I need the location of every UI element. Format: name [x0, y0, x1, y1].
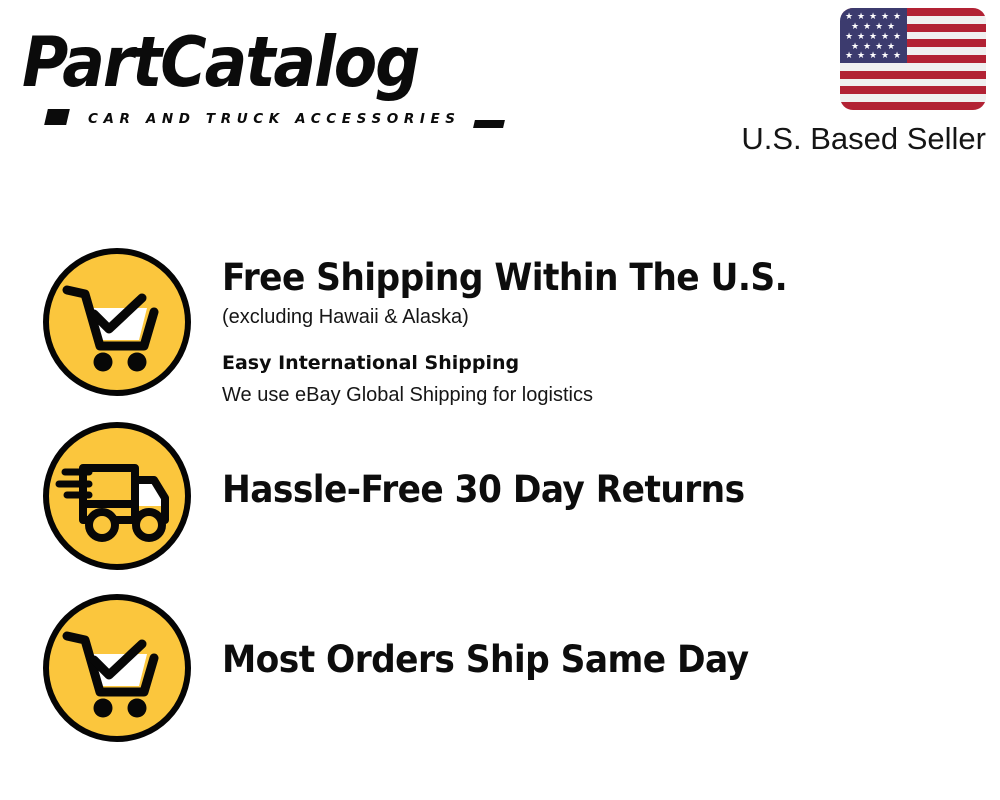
- benefit-heading: Free Shipping Within The U.S.: [222, 256, 938, 300]
- benefit-subtext-secondary: We use eBay Global Shipping for logistic…: [222, 380, 992, 410]
- benefit-heading: Hassle-Free 30 Day Returns: [222, 468, 938, 512]
- benefit-row: Hassle-Free 30 Day Returns: [0, 420, 1000, 592]
- benefit-text-block: Hassle-Free 30 Day Returns: [222, 468, 992, 512]
- shopping-cart-check-icon: [43, 248, 191, 396]
- benefit-row: Most Orders Ship Same Day: [0, 591, 1000, 763]
- benefits-list: Free Shipping Within The U.S. (excluding…: [0, 170, 1000, 800]
- delivery-truck-icon: [43, 422, 191, 570]
- brand-logo[interactable]: PartCatalog CAR AND TRUCK ACCESSORIES: [22, 22, 492, 117]
- benefit-row: Free Shipping Within The U.S. (excluding…: [0, 248, 1000, 420]
- benefit-subtext: (excluding Hawaii & Alaska): [222, 302, 992, 332]
- brand-tagline: CAR AND TRUCK ACCESSORIES: [88, 111, 461, 127]
- logo-bar-right-decoration: [473, 120, 505, 128]
- flag-canton: ★ ★ ★ ★ ★ ★ ★ ★ ★ ★ ★ ★ ★ ★ ★ ★ ★ ★ ★ ★: [840, 8, 907, 63]
- benefit-subtext-bold: Easy International Shipping: [222, 348, 992, 378]
- logo-bar-left-decoration: [44, 109, 70, 125]
- shopping-cart-check-icon: [43, 594, 191, 742]
- us-based-seller-badge: ★ ★ ★ ★ ★ ★ ★ ★ ★ ★ ★ ★ ★ ★ ★ ★ ★ ★ ★ ★: [696, 8, 986, 157]
- us-flag-icon: ★ ★ ★ ★ ★ ★ ★ ★ ★ ★ ★ ★ ★ ★ ★ ★ ★ ★ ★ ★: [840, 8, 986, 110]
- benefit-text-block: Free Shipping Within The U.S. (excluding…: [222, 256, 992, 410]
- benefit-heading: Most Orders Ship Same Day: [222, 638, 938, 682]
- brand-wordmark: PartCatalog: [22, 22, 501, 103]
- benefit-text-block: Most Orders Ship Same Day: [222, 638, 992, 682]
- us-based-seller-label: U.S. Based Seller: [696, 121, 986, 157]
- page-header: PartCatalog CAR AND TRUCK ACCESSORIES ★ …: [0, 0, 1000, 170]
